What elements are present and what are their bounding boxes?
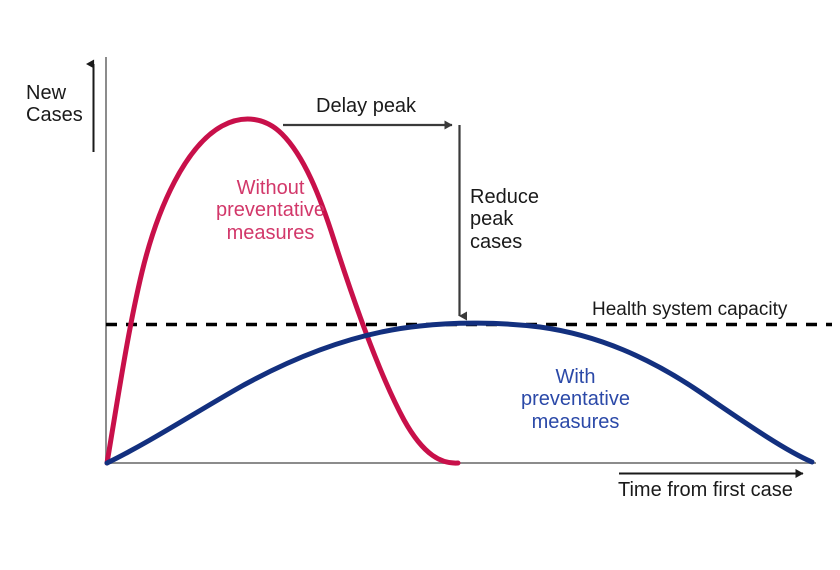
- with-preventative-measures-curve: [107, 323, 812, 463]
- annotation-delay-peak: Delay peak: [316, 95, 416, 117]
- annotation-health-system-capacity: Health system capacity: [592, 299, 787, 320]
- series-label-without-preventative-measures: Without preventative measures: [216, 177, 325, 244]
- y-axis-label: New Cases: [26, 82, 83, 127]
- x-axis-label: Time from first case: [618, 479, 793, 501]
- without-preventative-measures-curve: [107, 119, 458, 463]
- flatten-the-curve-chart: New Cases Time from first case Delay pea…: [0, 0, 840, 570]
- annotation-reduce-peak-cases: Reduce peak cases: [470, 186, 539, 253]
- series-label-with-preventative-measures: With preventative measures: [521, 366, 630, 433]
